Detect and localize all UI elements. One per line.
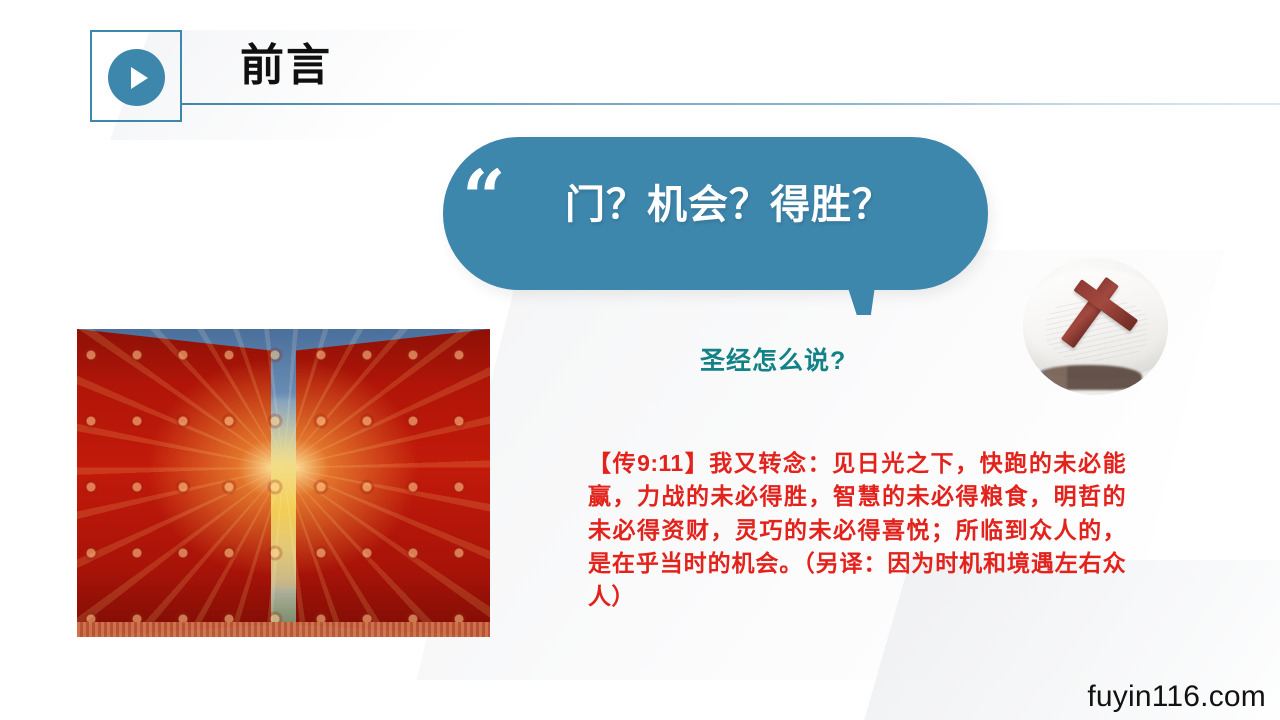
play-triangle-icon	[131, 67, 148, 89]
door-threshold-strip	[77, 622, 490, 637]
play-icon	[108, 49, 165, 106]
section-subtitle: 圣经怎么说?	[700, 341, 846, 377]
scripture-text: 【传9:11】我又转念：见日光之下，快跑的未必能赢，力战的未必得胜，智慧的未必得…	[588, 447, 1126, 614]
door-leaf-right	[296, 329, 490, 637]
header-divider-line	[182, 103, 1280, 105]
quote-bubble-text: 门？机会？得胜？	[565, 183, 965, 227]
door-photo	[77, 329, 490, 637]
door-leaf-left	[77, 329, 271, 637]
site-watermark: fuyin116.com	[1087, 680, 1266, 714]
cross-photo	[1023, 258, 1168, 395]
quote-mark-icon: “	[462, 160, 506, 236]
page-title: 前言	[240, 44, 332, 88]
presentation-slide: 前言 “ 门？机会？得胜？ 圣经怎么说? 【传9:11】我又转念：见日光之下，快…	[0, 0, 1280, 720]
bible-spine-edge	[1035, 365, 1142, 390]
slide-header: 前言	[0, 0, 1280, 130]
